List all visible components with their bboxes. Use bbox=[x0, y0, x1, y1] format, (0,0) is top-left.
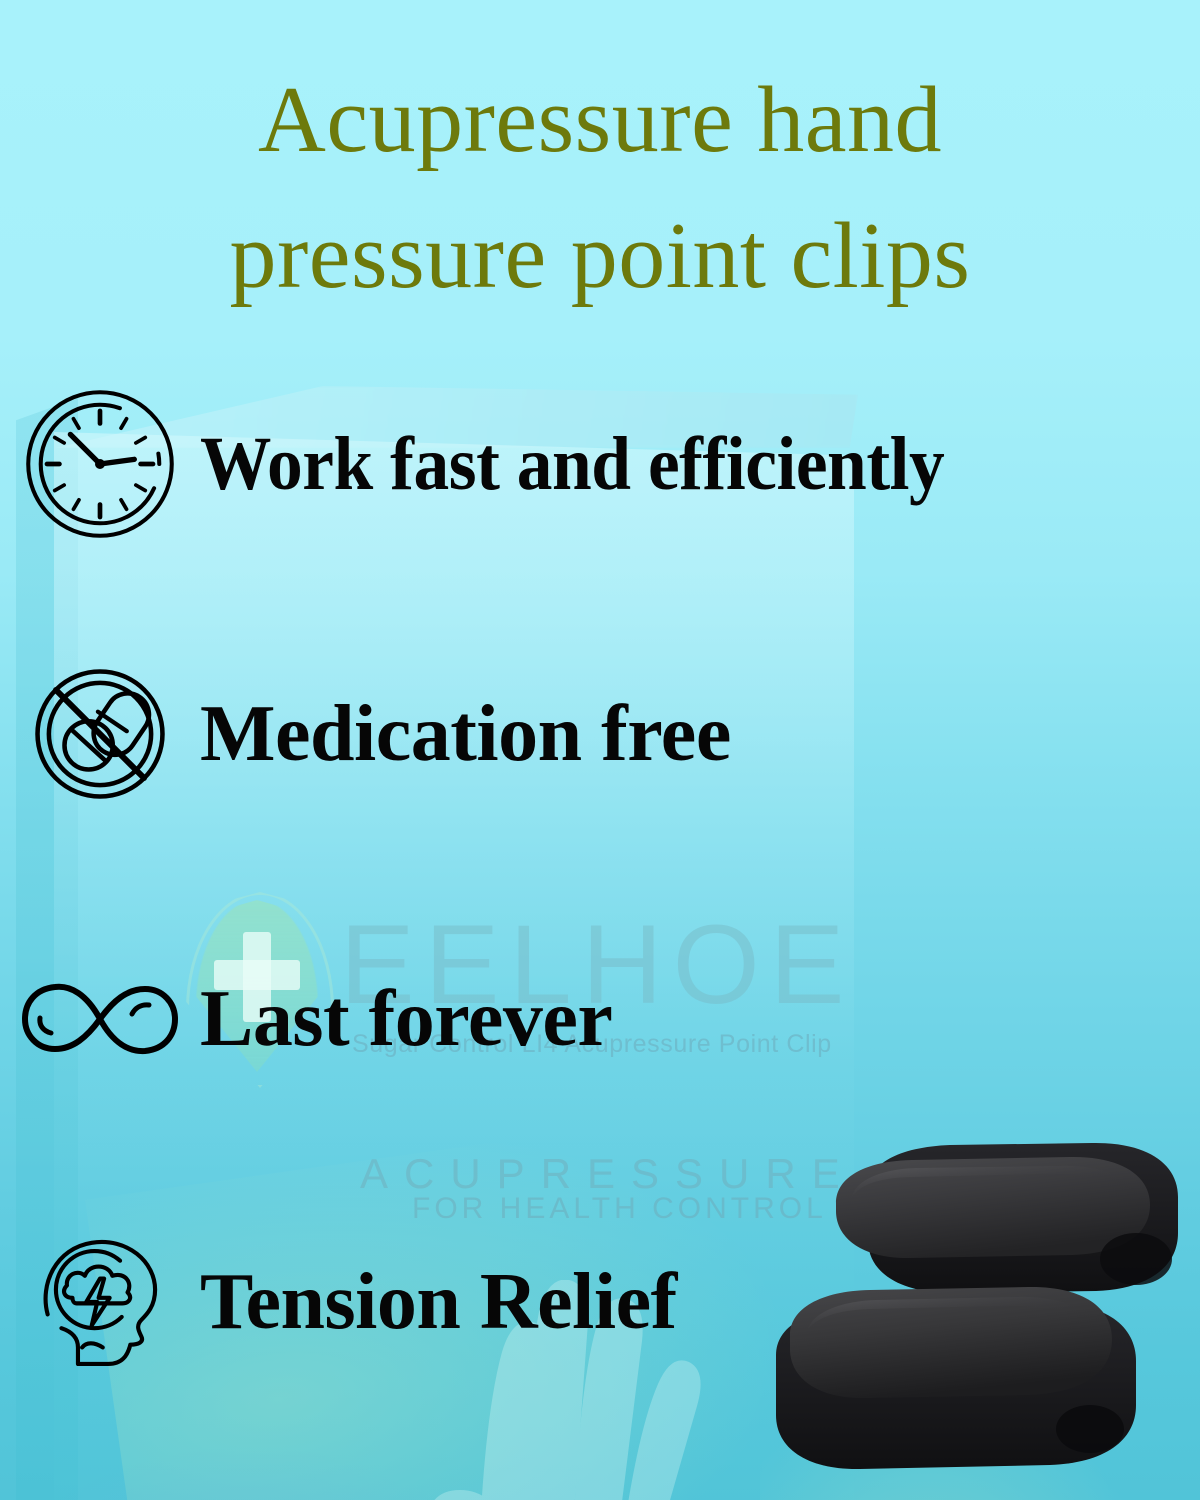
feature-row-last-forever: Last forever bbox=[0, 960, 1200, 1078]
no-medication-icon bbox=[0, 663, 200, 805]
infinity-icon bbox=[0, 971, 200, 1067]
clock-icon bbox=[0, 386, 200, 542]
poster-canvas: EELHOE Sugar Control LI4 Acupressure Poi… bbox=[0, 0, 1200, 1500]
feature-label: Last forever bbox=[200, 979, 612, 1059]
acupressure-clip-pair bbox=[760, 1105, 1200, 1500]
feature-row-medication-free: Medication free bbox=[0, 668, 1200, 800]
feature-label: Tension Relief bbox=[200, 1262, 677, 1342]
title-line-2: pressure point clips bbox=[0, 188, 1200, 324]
poster-title: Acupressure hand pressure point clips bbox=[0, 52, 1200, 325]
feature-row-work-fast: Work fast and efficiently bbox=[0, 398, 1200, 530]
head-stress-icon bbox=[0, 1229, 200, 1375]
feature-label: Work fast and efficiently bbox=[200, 426, 944, 502]
title-line-1: Acupressure hand bbox=[0, 52, 1200, 188]
feature-label: Medication free bbox=[200, 694, 731, 774]
